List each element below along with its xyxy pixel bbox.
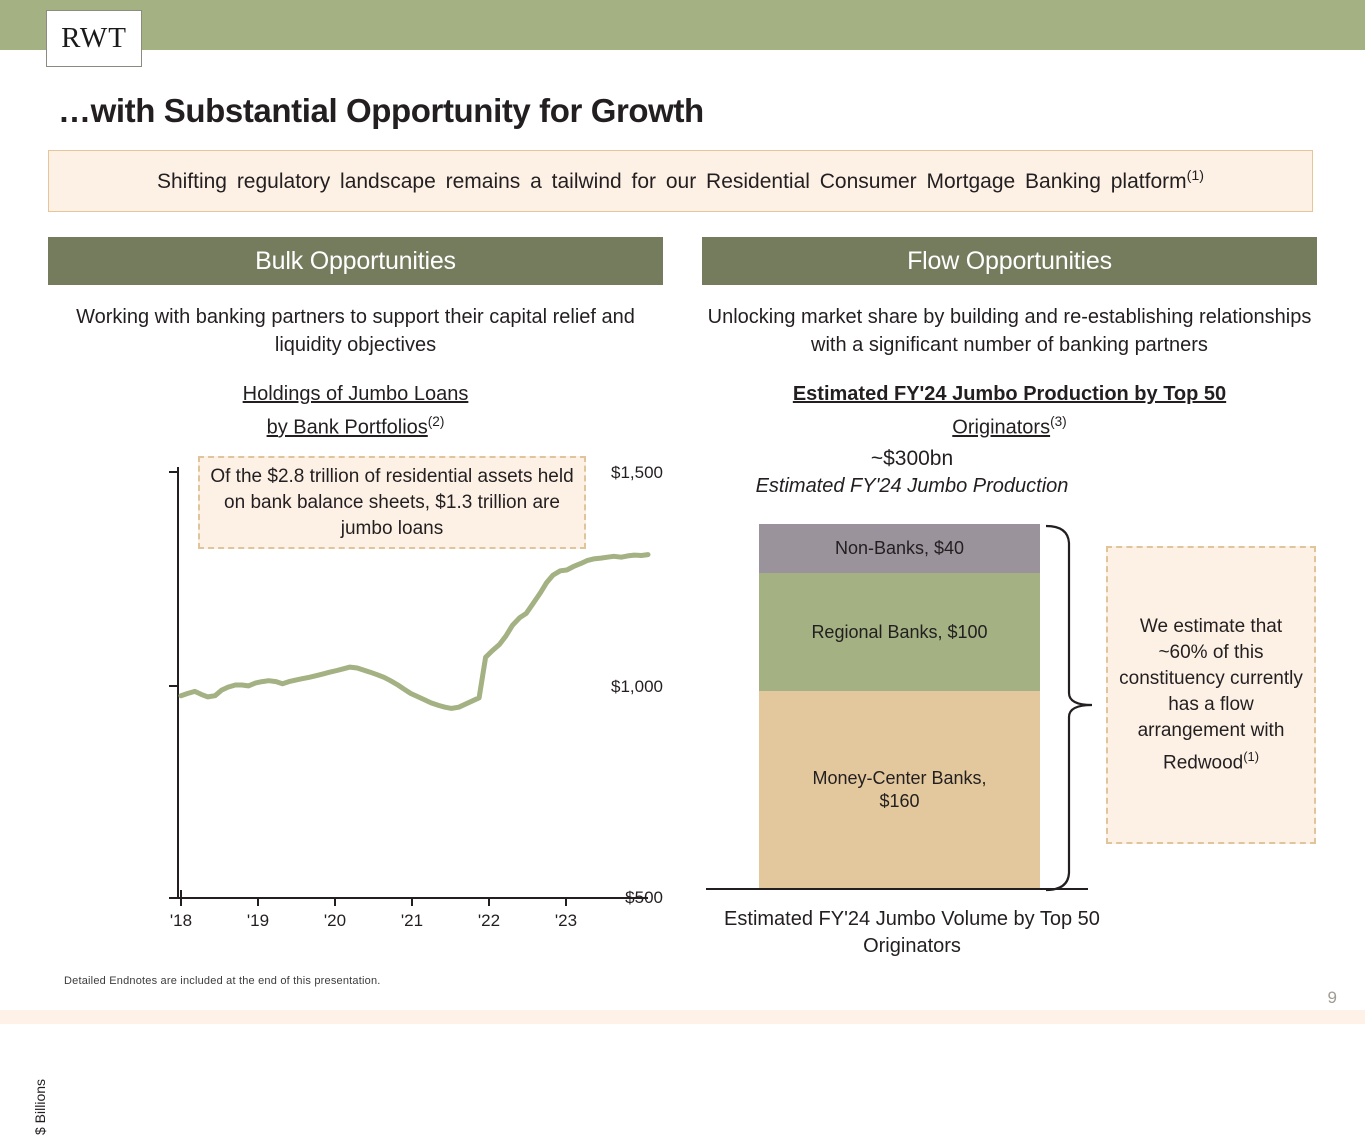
x-tick-19: '19 bbox=[228, 911, 288, 931]
line-chart-title-line1: Holdings of Jumbo Loans bbox=[243, 383, 469, 405]
bar-bracket bbox=[1040, 515, 1110, 900]
page-number: 9 bbox=[1328, 988, 1337, 1008]
bar-chart-caption: Estimated FY'24 Jumbo Volume by Top 50 O… bbox=[702, 906, 1122, 960]
money-center-label: Money-Center Banks, $160 bbox=[800, 767, 1000, 813]
line-chart-title-line2: by Bank Portfolios bbox=[267, 417, 428, 439]
banner-footnote-marker: (1) bbox=[1187, 168, 1204, 184]
bar-chart-baseline bbox=[706, 888, 1088, 890]
jumbo-production-stacked-bar: Non-Banks, $40 Regional Banks, $100 Mone… bbox=[759, 524, 1040, 888]
flow-header: Flow Opportunities bbox=[702, 237, 1317, 285]
bar-segment-money-center-banks: Money-Center Banks, $160 bbox=[759, 691, 1040, 888]
flow-callout-message: We estimate that ~60% of this constituen… bbox=[1119, 616, 1303, 773]
bulk-callout-box: Of the $2.8 trillion of residential asse… bbox=[198, 456, 586, 549]
bar-chart-title-line1: Estimated FY'24 Jumbo Production by Top … bbox=[793, 383, 1226, 405]
x-tick-22: '22 bbox=[459, 911, 519, 931]
flow-subtitle: Unlocking market share by building and r… bbox=[702, 303, 1317, 359]
bulk-opportunities-column: Bulk Opportunities Working with banking … bbox=[48, 237, 663, 442]
header-band bbox=[0, 0, 1365, 50]
footer-band bbox=[0, 1010, 1365, 1024]
flow-callout-footnote-marker: (1) bbox=[1243, 749, 1259, 764]
y-tick-1000: $1,000 bbox=[551, 677, 663, 697]
x-tick-23: '23 bbox=[536, 911, 596, 931]
x-tick-21: '21 bbox=[382, 911, 442, 931]
bar-caption-text: Estimated FY'24 Jumbo Volume by Top 50 O… bbox=[724, 908, 1100, 957]
y-axis-label: $ Billions bbox=[32, 1079, 48, 1135]
production-total-value: ~$300bn bbox=[702, 447, 1122, 471]
bar-segment-regional-banks: Regional Banks, $100 bbox=[759, 573, 1040, 691]
bar-chart-footnote-marker: (3) bbox=[1050, 414, 1067, 429]
page-title: …with Substantial Opportunity for Growth bbox=[58, 92, 704, 130]
banner-callout: Shifting regulatory landscape remains a … bbox=[48, 150, 1313, 212]
flow-callout-text: We estimate that ~60% of this constituen… bbox=[1116, 614, 1306, 776]
bulk-header: Bulk Opportunities bbox=[48, 237, 663, 285]
endnotes-footnote: Detailed Endnotes are included at the en… bbox=[64, 975, 381, 987]
banner-message: Shifting regulatory landscape remains a … bbox=[157, 170, 1187, 193]
line-chart-title: Holdings of Jumbo Loans by Bank Portfoli… bbox=[48, 381, 663, 442]
rwt-logo: RWT bbox=[46, 10, 142, 67]
banner-text: Shifting regulatory landscape remains a … bbox=[139, 168, 1222, 194]
bar-chart-title: Estimated FY'24 Jumbo Production by Top … bbox=[702, 381, 1317, 442]
production-total-block: ~$300bn Estimated FY'24 Jumbo Production bbox=[702, 447, 1122, 498]
bulk-subtitle: Working with banking partners to support… bbox=[48, 303, 663, 359]
x-tick-20: '20 bbox=[305, 911, 365, 931]
y-tick-500: $500 bbox=[551, 888, 663, 908]
production-total-label: Estimated FY'24 Jumbo Production bbox=[702, 475, 1122, 498]
line-chart-footnote-marker: (2) bbox=[428, 414, 445, 429]
x-tick-18: '18 bbox=[151, 911, 211, 931]
bar-segment-non-banks: Non-Banks, $40 bbox=[759, 524, 1040, 573]
bulk-callout-text: Of the $2.8 trillion of residential asse… bbox=[210, 464, 574, 542]
flow-callout-box: We estimate that ~60% of this constituen… bbox=[1106, 546, 1316, 844]
bar-chart-title-line2: Originators bbox=[952, 417, 1050, 439]
flow-opportunities-column: Flow Opportunities Unlocking market shar… bbox=[702, 237, 1317, 442]
